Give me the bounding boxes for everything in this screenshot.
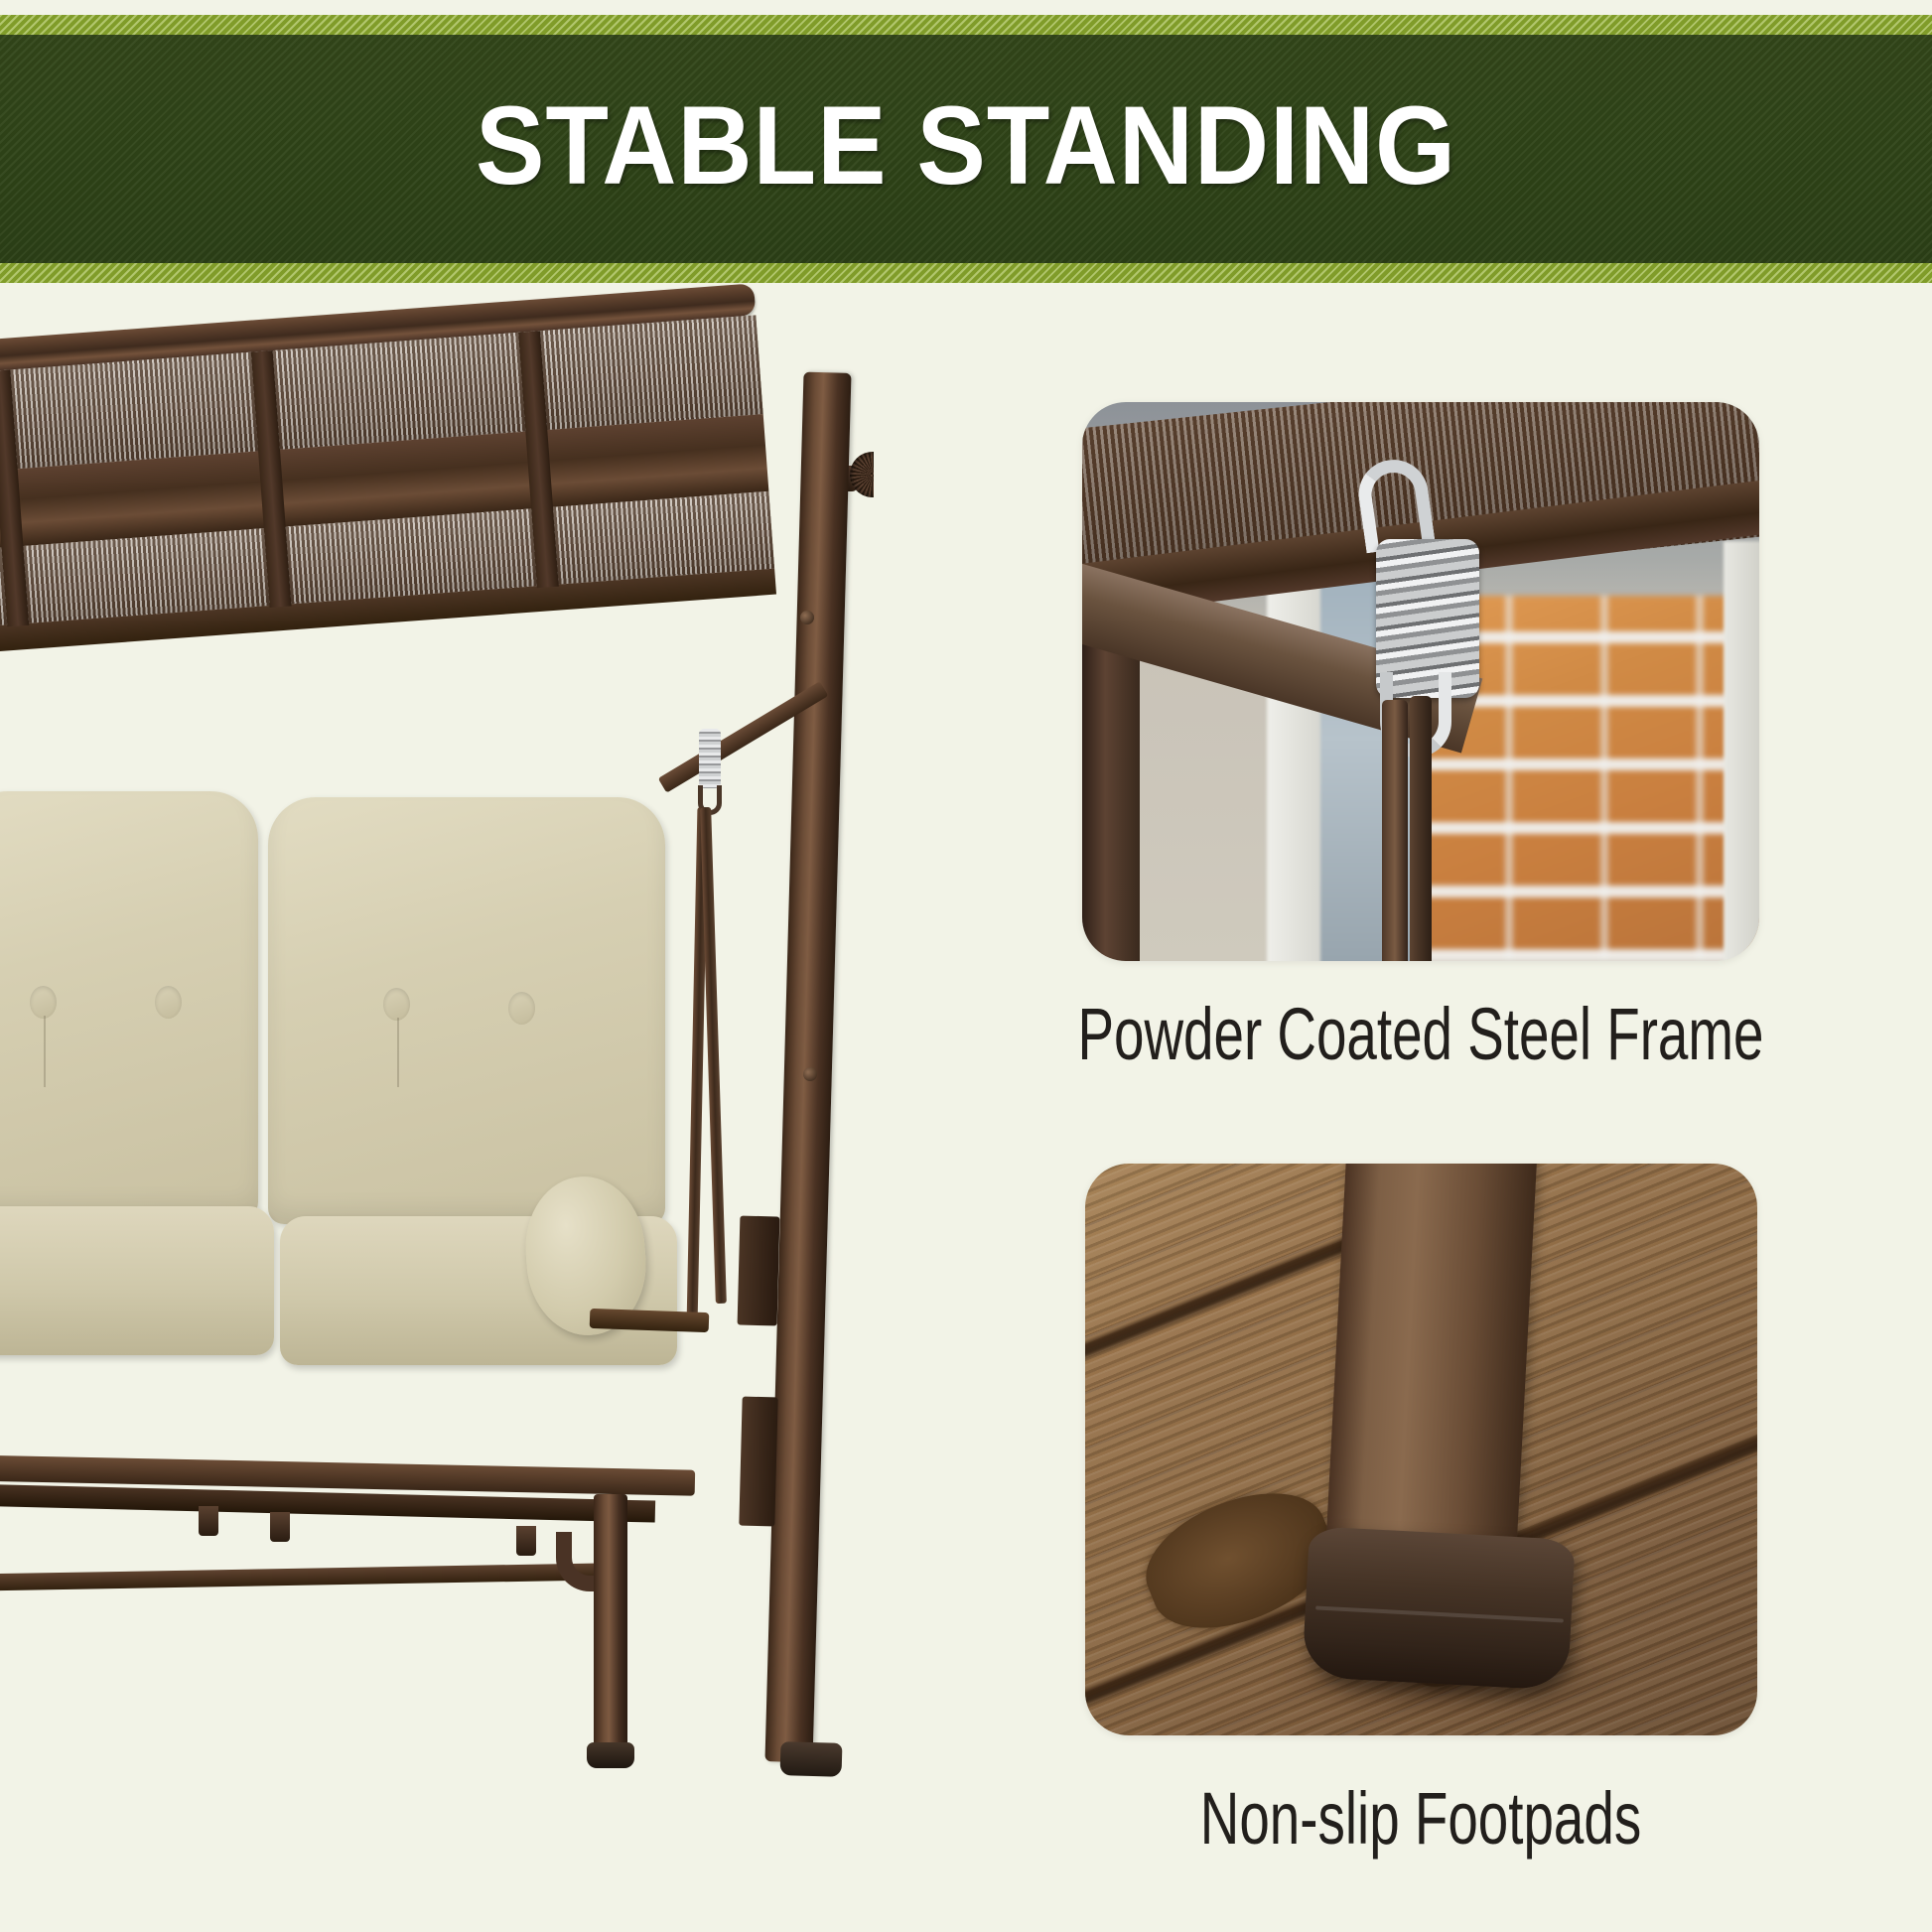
post-bolt — [800, 611, 814, 624]
inset-photo-steel-frame — [1082, 402, 1759, 961]
hanging-strap — [1410, 696, 1432, 961]
seat-cushion-left — [0, 1206, 274, 1355]
cushion-seam — [397, 1018, 399, 1087]
canopy-roof — [0, 283, 775, 655]
leg-footpad — [587, 1742, 634, 1768]
caption-steel-frame: Powder Coated Steel Frame — [980, 998, 1862, 1071]
banner-stripe-bottom — [0, 263, 1932, 283]
front-leg — [594, 1494, 627, 1752]
base-support-bar — [0, 1563, 616, 1591]
post-bolt — [803, 1067, 817, 1081]
back-cushion-left — [0, 791, 258, 1218]
armrest-bar — [590, 1309, 710, 1332]
leg-mount-bracket — [739, 1397, 777, 1527]
cushion-tuft — [383, 988, 410, 1021]
inset-photo-footpads — [1085, 1164, 1757, 1735]
cushion-tuft — [508, 992, 535, 1025]
seat-slat-tab — [270, 1512, 290, 1542]
window-frame-right — [1724, 541, 1759, 961]
seat-slat-tab — [516, 1526, 536, 1556]
seat-mount-bracket — [738, 1215, 780, 1325]
hanging-strap — [1382, 700, 1408, 961]
cushion-tuft — [155, 986, 182, 1019]
post-footpad — [780, 1741, 843, 1777]
header-banner: STABLE STANDING — [0, 15, 1932, 283]
caption-footpads: Non-slip Footpads — [980, 1782, 1862, 1856]
seat-slat-tab — [199, 1506, 218, 1536]
hero-product-image — [0, 283, 874, 1932]
cushion-seam — [44, 1016, 46, 1087]
suspension-spring — [699, 729, 721, 788]
back-cushion-right — [268, 797, 665, 1224]
cushion-tuft — [30, 986, 57, 1019]
swing-seat — [0, 791, 715, 1466]
page-title: STABLE STANDING — [68, 15, 1864, 283]
